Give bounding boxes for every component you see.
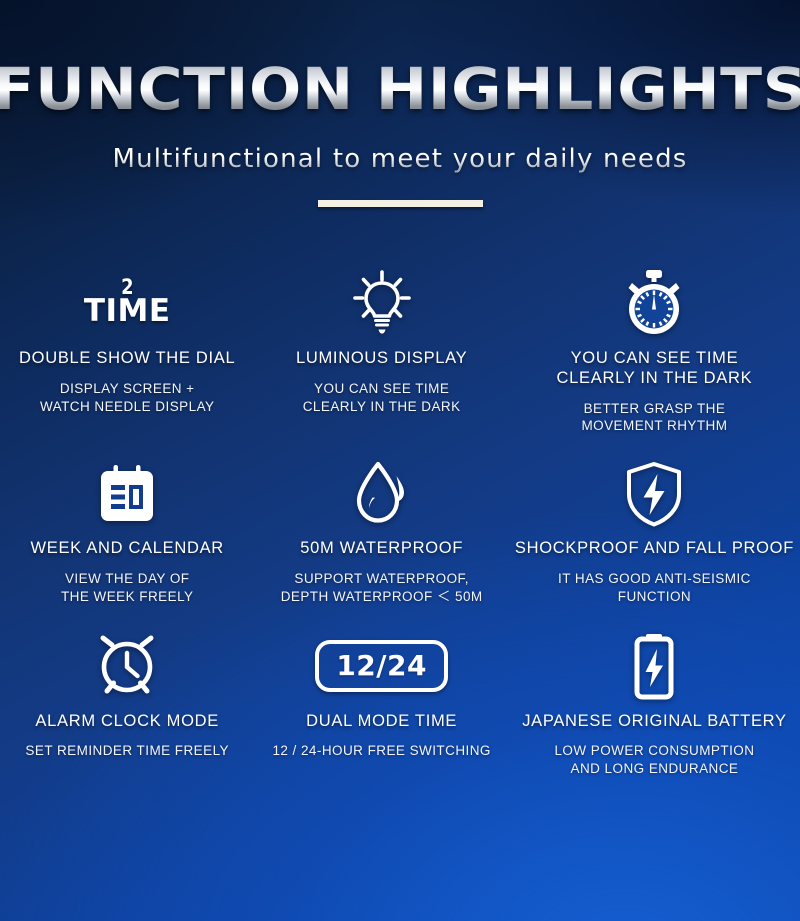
feature-description: IT HAS GOOD ANTI-SEISMIC FUNCTION	[515, 570, 794, 606]
feature-title: ALARM CLOCK MODE	[6, 712, 248, 732]
water-drop-icon	[260, 459, 502, 529]
shield-bolt-icon	[515, 459, 794, 529]
title-divider	[318, 200, 483, 207]
alarm-clock-icon	[6, 630, 248, 702]
feature-title: JAPANESE ORIGINAL BATTERY	[515, 712, 794, 732]
feature-title: DOUBLE SHOW THE DIAL	[6, 349, 248, 369]
lightbulb-icon	[260, 265, 502, 339]
header: FUNCTION HIGHLIGHTS Multifunctional to m…	[0, 0, 800, 207]
feature-description: LOW POWER CONSUMPTION AND LONG ENDURANCE	[515, 742, 794, 778]
feature-title: WEEK AND CALENDAR	[6, 539, 248, 559]
feature-card-calendar: WEEK AND CALENDAR VIEW THE DAY OF THE WE…	[0, 459, 254, 605]
feature-card-battery: JAPANESE ORIGINAL BATTERY LOW POWER CONS…	[509, 630, 800, 778]
feature-description: BETTER GRASP THE MOVEMENT RHYTHM	[515, 400, 794, 436]
feature-title: LUMINOUS DISPLAY	[260, 349, 502, 369]
page-title: FUNCTION HIGHLIGHTS	[0, 60, 800, 118]
stopwatch-icon	[515, 265, 794, 339]
feature-description: SUPPORT WATERPROOF, DEPTH WATERPROOF ＜ 5…	[260, 570, 502, 606]
two-time-text-icon: 2 TIME	[6, 265, 248, 339]
battery-bolt-icon	[515, 630, 794, 702]
feature-card-alarm: ALARM CLOCK MODE SET REMINDER TIME FREEL…	[0, 630, 254, 778]
feature-description: 12 / 24-HOUR FREE SWITCHING	[260, 742, 502, 760]
feature-card-double-dial: 2 TIME DOUBLE SHOW THE DIAL DISPLAY SCRE…	[0, 265, 254, 435]
dual-time-pill-icon: 12/24	[260, 630, 502, 702]
feature-card-stopwatch: YOU CAN SEE TIME CLEARLY IN THE DARK BET…	[509, 265, 800, 435]
feature-card-waterproof: 50M WATERPROOF SUPPORT WATERPROOF, DEPTH…	[254, 459, 508, 605]
feature-description: SET REMINDER TIME FREELY	[6, 742, 248, 760]
feature-title: 50M WATERPROOF	[260, 539, 502, 559]
infographic-page: FUNCTION HIGHLIGHTS Multifunctional to m…	[0, 0, 800, 921]
feature-card-shockproof: SHOCKPROOF AND FALL PROOF IT HAS GOOD AN…	[509, 459, 800, 605]
feature-title: DUAL MODE TIME	[260, 712, 502, 732]
feature-card-dual-time: 12/24 DUAL MODE TIME 12 / 24-HOUR FREE S…	[254, 630, 508, 778]
feature-description: VIEW THE DAY OF THE WEEK FREELY	[6, 570, 248, 606]
dual-time-label: 12/24	[315, 640, 448, 692]
two-time-icon-top: 2	[90, 278, 164, 297]
feature-title: YOU CAN SEE TIME CLEARLY IN THE DARK	[515, 349, 794, 389]
two-time-icon-bottom: TIME	[84, 297, 171, 326]
feature-grid: 2 TIME DOUBLE SHOW THE DIAL DISPLAY SCRE…	[0, 265, 800, 778]
feature-description: DISPLAY SCREEN + WATCH NEEDLE DISPLAY	[6, 380, 248, 416]
calendar-icon	[6, 459, 248, 529]
feature-title: SHOCKPROOF AND FALL PROOF	[515, 539, 794, 559]
page-subtitle: Multifunctional to meet your daily needs	[0, 144, 800, 174]
feature-description: YOU CAN SEE TIME CLEARLY IN THE DARK	[260, 380, 502, 416]
feature-card-luminous: LUMINOUS DISPLAY YOU CAN SEE TIME CLEARL…	[254, 265, 508, 435]
